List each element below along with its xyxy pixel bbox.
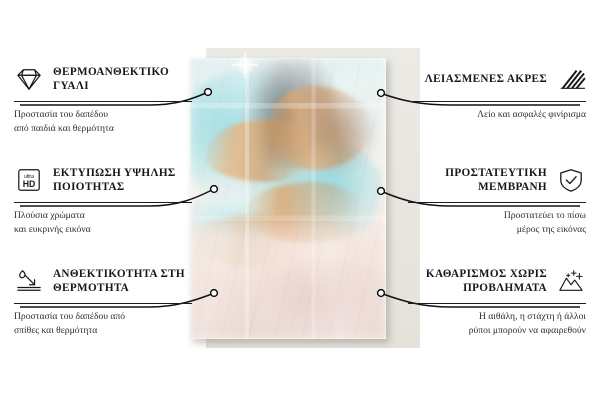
feature-description: Λείο και ασφαλές φινίρισμα [408,108,586,122]
description-line: μέρος της εικόνας [408,223,586,237]
infographic-canvas: ΘΕΡΜΟΑΝΘΕΚΤΙΚΟ ΓΥΑΛΙ Προστασία του δαπέδ… [0,0,600,400]
divider [408,202,586,203]
ultra-hd-icon: ultra HD [14,167,44,193]
feature-easy-cleaning: ΚΑΘΑΡΙΣΜΟΣ ΧΩΡΙΣ ΠΡΟΒΛΗΜΑΤΑ Η αιθάλη, η … [408,264,586,337]
feature-title: ΘΕΡΜΟΑΝΘΕΚΤΙΚΟ ΓΥΑΛΙ [53,65,192,93]
easy-clean-sparkle-icon [556,268,586,294]
glass-splashback-panel [190,58,386,339]
feature-protective-membrane: ΠΡΟΣΤΑΤΕΥΤΙΚΗ ΜΕΜΒΡΑΝΗ Προστατεύει το πί… [408,163,586,236]
description-line: σπίθες και θερμότητα [14,324,192,338]
divider [14,101,192,102]
feature-title: ΕΚΤΥΠΩΣΗ ΥΨΗΛΗΣ ΠΟΙΟΤΗΤΑΣ [53,166,192,194]
svg-text:HD: HD [23,179,36,189]
feature-polished-edges: ΛΕΙΑΣΜΕΝΕΣ ΑΚΡΕΣ Λείο και ασφαλές φινίρι… [408,62,586,122]
feature-title: ΛΕΙΑΣΜΕΝΕΣ ΑΚΡΕΣ [425,72,547,86]
divider [14,303,192,304]
diamond-icon [14,66,44,92]
description-line: Προστασία του δαπέδου από [14,310,192,324]
divider [408,101,586,102]
polished-edges-icon [556,66,586,92]
feature-description: Η αιθάλη, η στάχτη ή άλλοι ρύποι μπορούν… [408,310,586,337]
description-line: ρύποι μπορούν να αφαιρεθούν [408,324,586,338]
feature-title: ΠΡΟΣΤΑΤΕΥΤΙΚΗ ΜΕΜΒΡΑΝΗ [408,166,547,194]
description-line: Πλούσια χρώματα [14,209,192,223]
feature-description: Προστατεύει το πίσω μέρος της εικόνας [408,209,586,236]
divider [14,202,192,203]
feature-heat-resistant-glass: ΘΕΡΜΟΑΝΘΕΚΤΙΚΟ ΓΥΑΛΙ Προστασία του δαπέδ… [14,62,192,135]
feature-title: ΚΑΘΑΡΙΣΜΟΣ ΧΩΡΙΣ ΠΡΟΒΛΗΜΑΤΑ [408,267,547,295]
product-image [178,36,422,364]
description-line: και ευκρινής εικόνα [14,223,192,237]
description-line: Λείο και ασφαλές φινίρισμα [408,108,586,122]
feature-description: Προστασία του δαπέδου από παιδιά και θερ… [14,108,192,135]
feature-high-quality-print: ultra HD ΕΚΤΥΠΩΣΗ ΥΨΗΛΗΣ ΠΟΙΟΤΗΤΑΣ Πλούσ… [14,163,192,236]
description-line: Προστατεύει το πίσω [408,209,586,223]
flame-deflect-icon [14,268,44,294]
glass-edge-highlight [190,58,386,339]
feature-heat-durability: ΑΝΘΕΚΤΙΚΟΤΗΤΑ ΣΤΗ ΘΕΡΜΟΤΗΤΑ Προστασία το… [14,264,192,337]
description-line: Προστασία του δαπέδου [14,108,192,122]
feature-title: ΑΝΘΕΚΤΙΚΟΤΗΤΑ ΣΤΗ ΘΕΡΜΟΤΗΤΑ [53,267,192,295]
feature-description: Προστασία του δαπέδου από σπίθες και θερ… [14,310,192,337]
description-line: από παιδιά και θερμότητα [14,122,192,136]
shield-check-icon [556,167,586,193]
divider [408,303,586,304]
description-line: Η αιθάλη, η στάχτη ή άλλοι [408,310,586,324]
feature-description: Πλούσια χρώματα και ευκρινής εικόνα [14,209,192,236]
